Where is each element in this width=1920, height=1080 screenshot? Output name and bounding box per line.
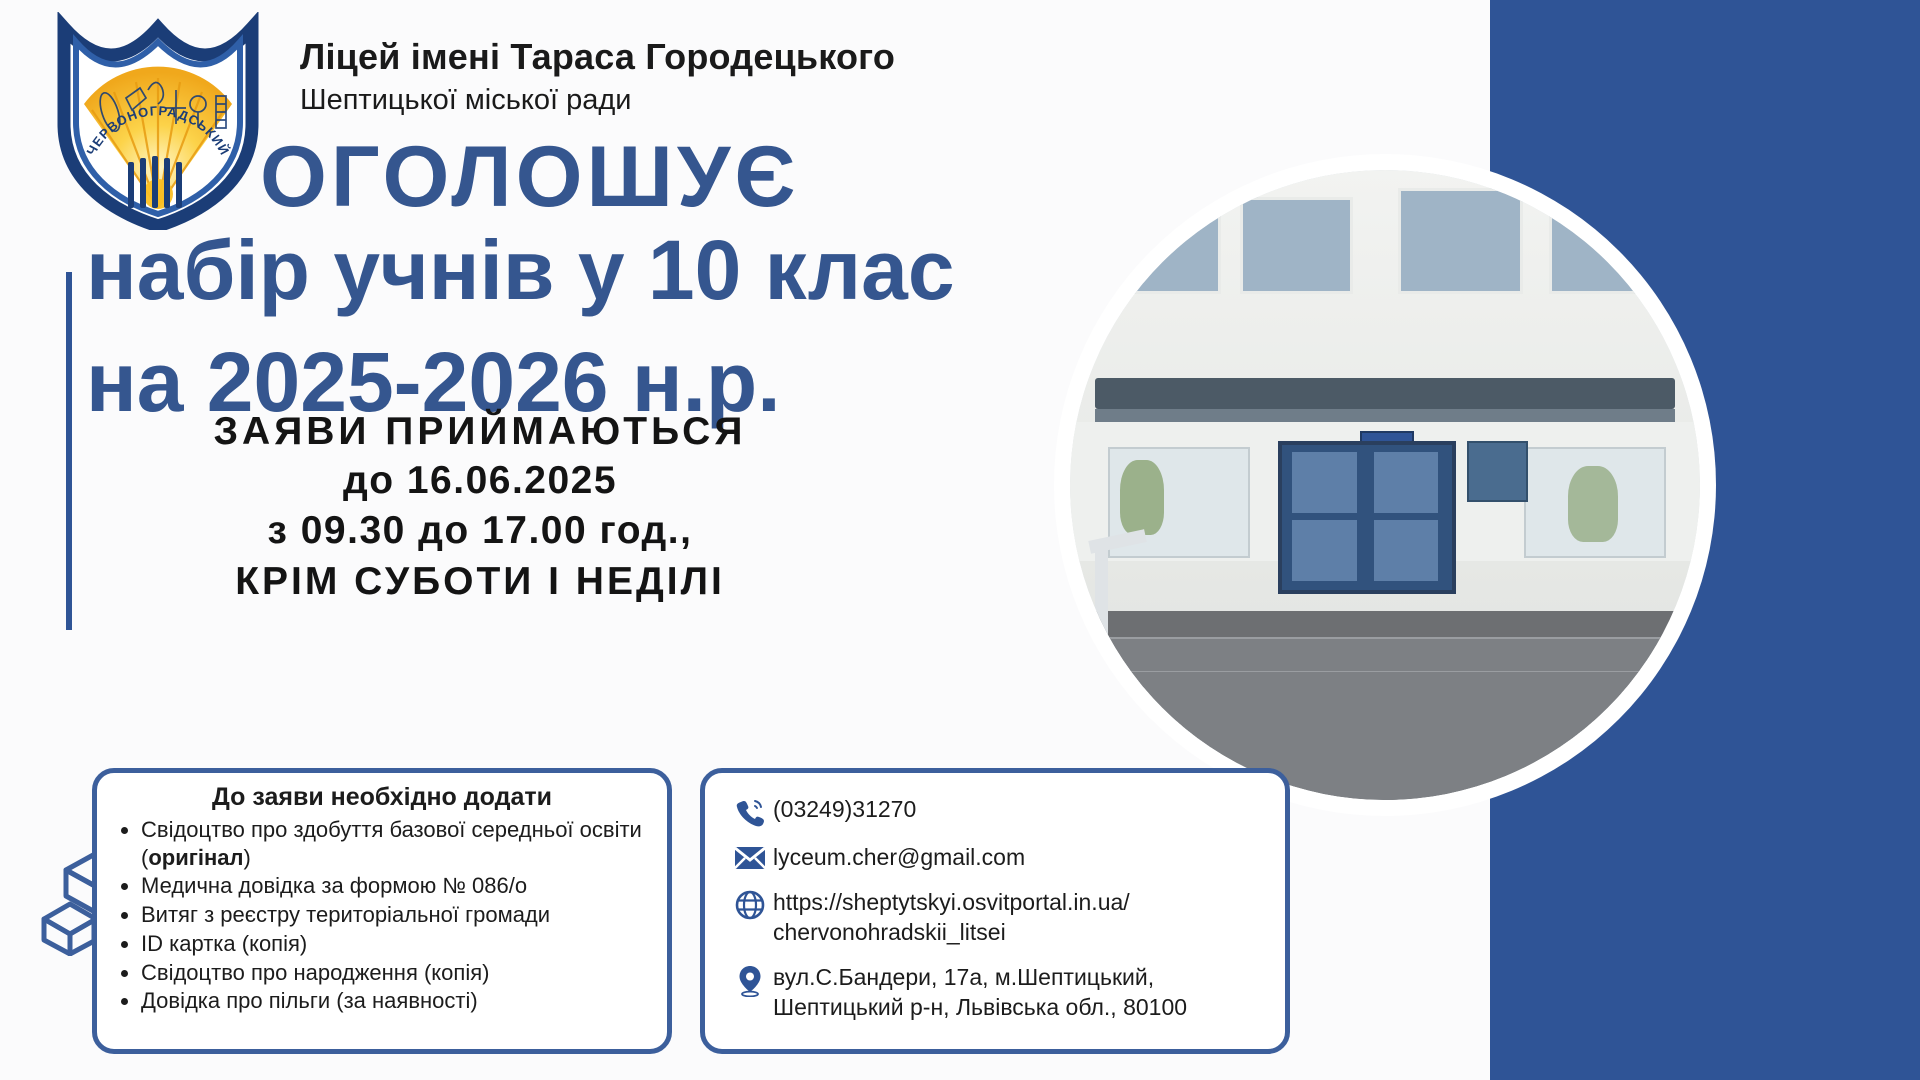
list-item: Довідка про пільги (за наявності) bbox=[141, 987, 655, 1015]
headline-enrollment: набір учнів у 10 клас bbox=[86, 228, 1096, 312]
photo-entrance-canopy bbox=[1095, 378, 1675, 410]
office-hours: з 09.30 до 17.00 год., bbox=[40, 506, 920, 557]
map-pin-icon bbox=[727, 963, 773, 997]
doc-emphasis: оригінал bbox=[148, 845, 243, 870]
doc-text: Свідоцтво про народження (копія) bbox=[141, 960, 489, 985]
list-item: Свідоцтво про здобуття базової середньої… bbox=[141, 816, 655, 871]
closed-days: КРІМ СУБОТИ І НЕДІЛІ bbox=[40, 557, 920, 608]
doc-text: ID картка (копія) bbox=[141, 931, 307, 956]
photo-foliage-right bbox=[1568, 466, 1618, 542]
headline-announce: ОГОЛОШУЄ bbox=[260, 134, 1160, 220]
school-building-photo bbox=[1070, 170, 1700, 800]
envelope-icon bbox=[727, 843, 773, 871]
address-line1: вул.С.Бандери, 17а, м.Шептицький, bbox=[773, 964, 1154, 990]
globe-icon bbox=[727, 888, 773, 920]
school-name-title: Ліцей імені Тараса Городецького bbox=[300, 36, 1310, 78]
phone-icon bbox=[727, 795, 773, 827]
contact-row-phone: (03249)31270 bbox=[727, 795, 1271, 827]
list-item: Витяг з реєстру територіальної громади bbox=[141, 901, 655, 929]
website-url[interactable]: https://sheptytskyi.osvitportal.in.ua/ c… bbox=[773, 888, 1130, 947]
contact-row-website: https://sheptytskyi.osvitportal.in.ua/ c… bbox=[727, 888, 1271, 947]
doc-text: Витяг з реєстру територіальної громади bbox=[141, 902, 550, 927]
documents-card-title: До заяви необхідно додати bbox=[97, 783, 667, 812]
contact-rows: (03249)31270 lyceum.cher@gmail.com bbox=[705, 773, 1285, 1022]
address-line2: Шептицький р-н, Львівська обл., 80100 bbox=[773, 994, 1187, 1020]
deadline-date: до 16.06.2025 bbox=[40, 456, 920, 507]
contact-info-card: (03249)31270 lyceum.cher@gmail.com bbox=[700, 768, 1290, 1054]
school-logo: ЧЕРВОНОГРАДСЬКИЙ bbox=[48, 12, 268, 230]
list-item: ID картка (копія) bbox=[141, 930, 655, 958]
doc-text: Медична довідка за формою № 086/о bbox=[141, 873, 527, 898]
website-url-line1: https://sheptytskyi.osvitportal.in.ua/ bbox=[773, 889, 1130, 915]
photo-wall-plaque bbox=[1467, 441, 1528, 502]
documents-list: Свідоцтво про здобуття базової середньої… bbox=[97, 816, 667, 1015]
applications-accepted-label: ЗАЯВИ ПРИЙМАЮТЬСЯ bbox=[40, 408, 920, 456]
list-item: Свідоцтво про народження (копія) bbox=[141, 959, 655, 987]
required-documents-card: До заяви необхідно додати Свідоцтво про … bbox=[92, 768, 672, 1054]
doc-text: Довідка про пільги (за наявності) bbox=[141, 988, 478, 1013]
phone-number[interactable]: (03249)31270 bbox=[773, 795, 916, 824]
school-name-subtitle: Шептицької міської ради bbox=[300, 84, 1310, 117]
school-photo-circle bbox=[1070, 170, 1700, 800]
poster: ЧЕРВОНОГРАДСЬКИЙ Ліцей імені Тараса Горо… bbox=[0, 0, 1920, 1080]
photo-handrail-post bbox=[1095, 548, 1108, 636]
website-url-line2: chervonohradskii_litsei bbox=[773, 919, 1006, 945]
postal-address: вул.С.Бандери, 17а, м.Шептицький, Шептиц… bbox=[773, 963, 1187, 1022]
list-item: Медична довідка за формою № 086/о bbox=[141, 872, 655, 900]
email-address[interactable]: lyceum.cher@gmail.com bbox=[773, 843, 1025, 872]
photo-entrance-door bbox=[1278, 441, 1456, 594]
photo-foliage-left bbox=[1120, 460, 1164, 536]
contact-row-email: lyceum.cher@gmail.com bbox=[727, 843, 1271, 872]
application-details: ЗАЯВИ ПРИЙМАЮТЬСЯ до 16.06.2025 з 09.30 … bbox=[40, 408, 920, 608]
doc-text-end: ) bbox=[244, 845, 251, 870]
contact-row-address: вул.С.Бандери, 17а, м.Шептицький, Шептиц… bbox=[727, 963, 1271, 1022]
